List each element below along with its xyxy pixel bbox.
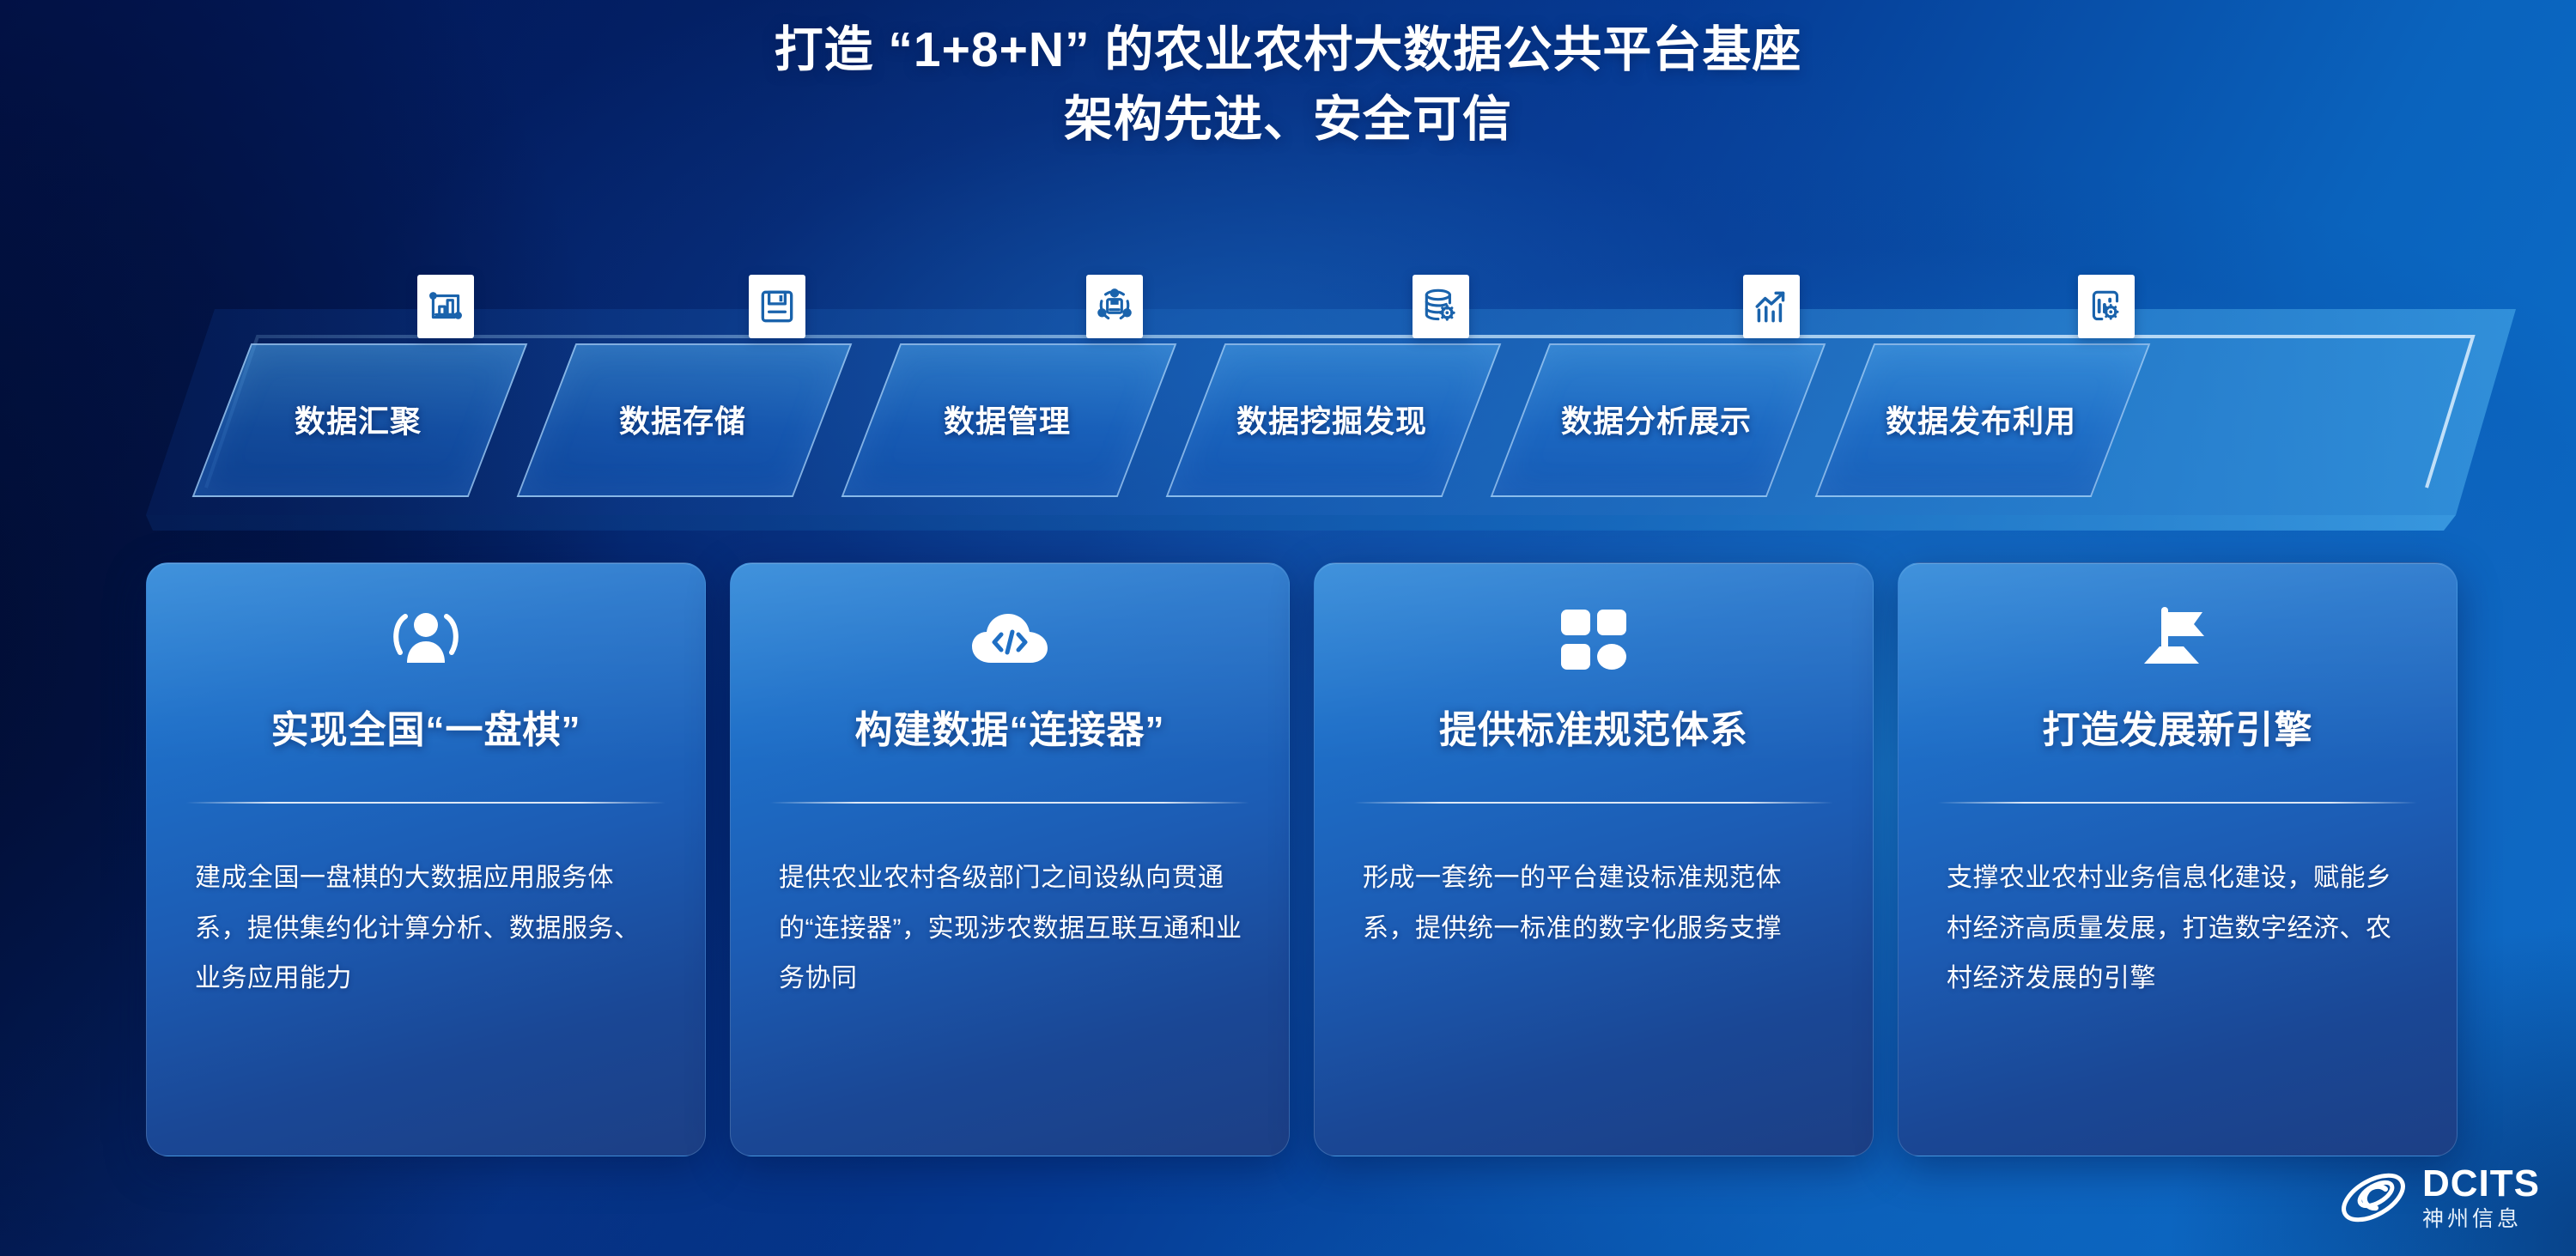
flag-icon [1899, 604, 2457, 677]
database-gear-icon [1413, 275, 1469, 338]
card-divider [770, 802, 1249, 804]
chart-trend-up-icon [1743, 275, 1800, 338]
cloud-code-icon [731, 604, 1289, 677]
disk-network-icon [1086, 275, 1143, 338]
pipeline-stage-label-5: 数据发布利用 [1844, 343, 2117, 494]
page-title: 打造 “1+8+N” 的农业农村大数据公共平台基座 架构先进、安全可信 [0, 15, 2576, 155]
title-line-1: 打造 “1+8+N” 的农业农村大数据公共平台基座 [0, 15, 2576, 85]
feature-card-body-1: 提供农业农村各级部门之间设纵向贯通的“连接器”，实现涉农数据互联互通和业务协同 [779, 853, 1249, 1004]
card-divider [186, 802, 665, 804]
users-group-icon [147, 604, 705, 677]
card-divider [1354, 802, 1833, 804]
feature-card-list: 实现全国“一盘棋” 建成全国一盘棋的大数据应用服务体系，提供集约化计算分析、数据… [0, 562, 2576, 1163]
title-line-2: 架构先进、安全可信 [0, 85, 2576, 155]
feature-card-title-0: 实现全国“一盘棋” [147, 699, 705, 754]
dcits-swirl-icon [2336, 1163, 2410, 1232]
pipeline-stage-label-3: 数据挖掘发现 [1195, 343, 1468, 494]
feature-card-1[interactable]: 构建数据“连接器” 提供农业农村各级部门之间设纵向贯通的“连接器”，实现涉农数据… [730, 562, 1290, 1156]
pipeline-stage-list: 数据汇聚 数据存储 数据管理 [0, 258, 2576, 541]
pipeline-stage-label-4: 数据分析展示 [1520, 343, 1793, 494]
card-divider [1938, 802, 2417, 804]
feature-card-3[interactable]: 打造发展新引擎 支撑农业农村业务信息化建设，赋能乡村经济高质量发展，打造数字经济… [1898, 562, 2458, 1156]
logo-text-en: DCITS [2422, 1165, 2540, 1203]
feature-card-title-2: 提供标准规范体系 [1315, 699, 1873, 754]
feature-card-title-1: 构建数据“连接器” [731, 699, 1289, 754]
pipeline-stage-label-2: 数据管理 [871, 343, 1144, 494]
bar-chart-frame-icon [417, 275, 474, 338]
feature-card-0[interactable]: 实现全国“一盘棋” 建成全国一盘棋的大数据应用服务体系，提供集约化计算分析、数据… [146, 562, 706, 1156]
pipeline-stage-label-0: 数据汇聚 [222, 343, 495, 494]
report-gear-icon [2078, 275, 2135, 338]
four-blocks-icon [1315, 604, 1873, 677]
feature-card-body-2: 形成一套统一的平台建设标准规范体系，提供统一标准的数字化服务支撑 [1363, 853, 1833, 954]
brand-logo: DCITS 神州信息 [2336, 1163, 2540, 1232]
feature-card-body-0: 建成全国一盘棋的大数据应用服务体系，提供集约化计算分析、数据服务、业务应用能力 [195, 853, 665, 1004]
slide-canvas: 打造 “1+8+N” 的农业农村大数据公共平台基座 架构先进、安全可信 [0, 0, 2576, 1256]
logo-text-cn: 神州信息 [2422, 1209, 2540, 1230]
feature-card-2[interactable]: 提供标准规范体系 形成一套统一的平台建设标准规范体系，提供统一标准的数字化服务支… [1314, 562, 1874, 1156]
feature-card-title-3: 打造发展新引擎 [1899, 699, 2457, 754]
pipeline-stage-label-1: 数据存储 [546, 343, 819, 494]
floppy-disk-icon [749, 275, 805, 338]
feature-card-body-3: 支撑农业农村业务信息化建设，赋能乡村经济高质量发展，打造数字经济、农村经济发展的… [1947, 853, 2417, 1004]
